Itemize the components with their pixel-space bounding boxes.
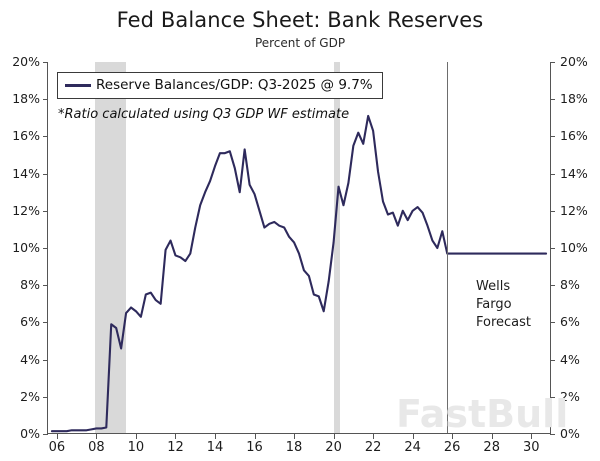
y-tick-mark-left [43,136,48,137]
y-tick-mark-left [43,434,48,435]
y-axis-label-left: 8% [2,277,40,292]
x-axis-label: 18 [279,440,309,455]
y-axis-label-left: 0% [2,426,40,441]
y-axis-label-right: 14% [560,166,588,181]
x-axis-label: 26 [437,440,467,455]
page-title: Fed Balance Sheet: Bank Reserves [0,8,600,32]
y-axis-label-left: 6% [2,314,40,329]
y-axis-label-right: 8% [560,277,580,292]
y-tick-mark-right [550,285,555,286]
y-tick-mark-left [43,397,48,398]
legend-line-swatch [65,84,91,87]
y-tick-mark-left [43,99,48,100]
y-tick-mark-right [550,248,555,249]
y-axis-label-right: 6% [560,314,580,329]
y-tick-mark-right [550,99,555,100]
x-tick-mark [294,434,295,439]
y-tick-mark-left [43,248,48,249]
y-tick-mark-right [550,136,555,137]
watermark: FastBull [396,392,568,436]
x-tick-mark [215,434,216,439]
y-tick-mark-left [43,322,48,323]
y-tick-mark-right [550,174,555,175]
x-axis-label: 14 [200,440,230,455]
legend-label: Reserve Balances/GDP: Q3-2025 @ 9.7% [96,77,373,93]
y-axis-label-left: 14% [2,166,40,181]
y-axis-label-left: 16% [2,128,40,143]
x-axis-label: 22 [358,440,388,455]
y-axis-label-right: 12% [560,203,588,218]
x-tick-mark [96,434,97,439]
x-axis-label: 12 [160,440,190,455]
x-tick-mark [373,434,374,439]
forecast-annotation: Wells Fargo Forecast [476,278,531,332]
y-tick-mark-left [43,285,48,286]
y-axis-label-right: 16% [560,128,588,143]
y-tick-mark-left [43,360,48,361]
x-tick-mark [57,434,58,439]
x-axis-label: 10 [121,440,151,455]
y-axis-label-right: 10% [560,240,588,255]
y-tick-mark-left [43,211,48,212]
y-axis-label-left: 4% [2,352,40,367]
forecast-annotation-line-3: Forecast [476,314,531,332]
x-axis-label: 24 [398,440,428,455]
y-tick-mark-right [550,360,555,361]
chart-subtitle: Percent of GDP [0,36,600,50]
x-axis-label: 20 [319,440,349,455]
y-tick-mark-left [43,174,48,175]
y-axis-label-left: 12% [2,203,40,218]
x-axis-label: 30 [516,440,546,455]
y-tick-mark-right [550,62,555,63]
y-tick-mark-left [43,62,48,63]
y-axis-label-right: 18% [560,91,588,106]
y-axis-label-right: 20% [560,54,588,69]
chart-root: Fed Balance Sheet: Bank Reserves Percent… [0,0,600,461]
x-tick-mark [334,434,335,439]
x-axis-label: 08 [81,440,111,455]
x-axis-label: 16 [240,440,270,455]
y-axis-label-left: 18% [2,91,40,106]
y-axis-label-left: 20% [2,54,40,69]
y-axis-label-left: 2% [2,389,40,404]
x-tick-mark [255,434,256,439]
y-axis-label-right: 4% [560,352,580,367]
forecast-annotation-line-1: Wells [476,278,531,296]
y-axis-label-left: 10% [2,240,40,255]
y-tick-mark-right [550,211,555,212]
footnote-text: *Ratio calculated using Q3 GDP WF estima… [58,107,349,122]
x-axis-label: 06 [42,440,72,455]
x-tick-mark [136,434,137,439]
x-axis-label: 28 [477,440,507,455]
chart-legend: Reserve Balances/GDP: Q3-2025 @ 9.7% [57,72,383,99]
x-tick-mark [175,434,176,439]
y-tick-mark-right [550,322,555,323]
forecast-annotation-line-2: Fargo [476,296,531,314]
